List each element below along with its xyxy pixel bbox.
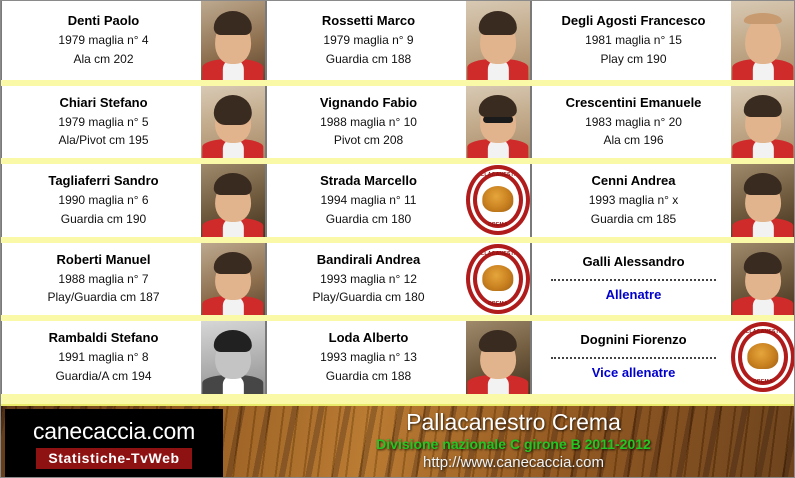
portrait-image (731, 243, 795, 316)
card-text: Chiari Stefano1979 maglia n° 5Ala/Pivot … (2, 86, 201, 159)
card-text: Crescentini Emanuele1983 maglia n° 20Ala… (532, 86, 731, 159)
player-photo (201, 243, 265, 316)
card-text: Bandirali Andrea1993 maglia n° 12Play/Gu… (267, 243, 466, 316)
portrait-image (466, 321, 530, 394)
portrait-image (201, 1, 265, 80)
player-birth-jersey: 1988 maglia n° 10 (320, 113, 417, 132)
player-card[interactable]: Denti Paolo1979 maglia n° 4Ala cm 202 (1, 1, 266, 80)
card-text: Cenni Andrea1993 maglia n° xGuardia cm 1… (532, 164, 731, 237)
player-card[interactable]: Cenni Andrea1993 maglia n° xGuardia cm 1… (531, 164, 795, 237)
card-text: Rossetti Marco1979 maglia n° 9Guardia cm… (267, 1, 466, 80)
portrait-image (731, 86, 795, 159)
portrait-image (466, 86, 530, 159)
club-title: Pallacanestro Crema (231, 410, 795, 436)
player-name: Galli Alessandro (582, 253, 684, 272)
club-league: Divisione nazionale C girone B 2011-2012 (231, 436, 795, 454)
player-photo (731, 164, 795, 237)
player-photo (731, 1, 795, 80)
player-role-height: Ala/Pivot cm 195 (58, 131, 148, 150)
player-birth-jersey: 1991 maglia n° 8 (58, 348, 148, 367)
player-birth-jersey: 1993 maglia n° 13 (320, 348, 417, 367)
player-role-height: Guardia cm 190 (61, 210, 146, 229)
player-photo (731, 86, 795, 159)
player-name: Vignando Fabio (320, 94, 417, 113)
player-name: Degli Agosti Francesco (562, 12, 706, 31)
player-name: Rossetti Marco (322, 12, 415, 31)
player-role-height: Guardia cm 188 (326, 367, 411, 386)
player-card[interactable]: Chiari Stefano1979 maglia n° 5Ala/Pivot … (1, 86, 266, 159)
player-name: Loda Alberto (329, 329, 409, 348)
player-role-height: Play cm 190 (600, 50, 666, 69)
player-name: Dognini Fiorenzo (580, 331, 686, 350)
staff-card[interactable]: Galli AlessandroAllenatre (531, 243, 795, 316)
player-birth-jersey: 1993 maglia n° x (589, 191, 679, 210)
card-text: Roberti Manuel1988 maglia n° 7Play/Guard… (2, 243, 201, 316)
player-name: Strada Marcello (320, 172, 417, 191)
player-card[interactable]: Vignando Fabio1988 maglia n° 10Pivot cm … (266, 86, 531, 159)
player-name: Denti Paolo (68, 12, 140, 31)
player-card[interactable]: Rossetti Marco1979 maglia n° 9Guardia cm… (266, 1, 531, 80)
portrait-image (201, 86, 265, 159)
roster-row: Rambaldi Stefano1991 maglia n° 8Guardia/… (1, 315, 795, 394)
player-birth-jersey: 1990 maglia n° 6 (58, 191, 148, 210)
player-card[interactable]: Tagliaferri Sandro1990 maglia n° 6Guardi… (1, 164, 266, 237)
portrait-image (731, 164, 795, 237)
team-roster-page: Denti Paolo1979 maglia n° 4Ala cm 202Ros… (0, 0, 795, 478)
crest-bottom-text: CREMA (470, 222, 526, 228)
player-name: Cenni Andrea (591, 172, 675, 191)
card-text: Vignando Fabio1988 maglia n° 10Pivot cm … (267, 86, 466, 159)
card-text: Degli Agosti Francesco1981 maglia n° 15P… (532, 1, 731, 80)
player-card[interactable]: Degli Agosti Francesco1981 maglia n° 15P… (531, 1, 795, 80)
roster-row: Denti Paolo1979 maglia n° 4Ala cm 202Ros… (1, 1, 795, 80)
player-birth-jersey: 1981 maglia n° 15 (585, 31, 682, 50)
player-card[interactable]: Bandirali Andrea1993 maglia n° 12Play/Gu… (266, 243, 531, 316)
player-photo (466, 1, 530, 80)
player-card[interactable]: Strada Marcello1994 maglia n° 11Guardia … (266, 164, 531, 237)
player-name: Bandirali Andrea (317, 251, 421, 270)
portrait-image (201, 243, 265, 316)
player-birth-jersey: 1983 maglia n° 20 (585, 113, 682, 132)
card-text: Strada Marcello1994 maglia n° 11Guardia … (267, 164, 466, 237)
player-card[interactable]: Crescentini Emanuele1983 maglia n° 20Ala… (531, 86, 795, 159)
card-text: Rambaldi Stefano1991 maglia n° 8Guardia/… (2, 321, 201, 394)
player-role-height: Play/Guardia cm 180 (312, 288, 424, 307)
portrait-image (201, 321, 265, 394)
player-name: Tagliaferri Sandro (48, 172, 158, 191)
player-photo (201, 86, 265, 159)
player-role-height: Guardia cm 185 (591, 210, 676, 229)
player-photo (466, 321, 530, 394)
club-crest-icon: PALLACANESTROCREMA (731, 321, 795, 394)
player-role-height: Ala cm 202 (73, 50, 133, 69)
staff-role: Vice allenatre (592, 363, 676, 383)
player-card[interactable]: Rambaldi Stefano1991 maglia n° 8Guardia/… (1, 321, 266, 394)
player-birth-jersey: 1993 maglia n° 12 (320, 270, 417, 289)
player-photo (731, 243, 795, 316)
card-text: Denti Paolo1979 maglia n° 4Ala cm 202 (2, 1, 201, 80)
player-card[interactable]: Roberti Manuel1988 maglia n° 7Play/Guard… (1, 243, 266, 316)
crest-bottom-text: CREMA (470, 301, 526, 307)
player-birth-jersey: 1988 maglia n° 7 (58, 270, 148, 289)
staff-role: Allenatre (606, 285, 662, 305)
player-photo (201, 321, 265, 394)
card-text: Tagliaferri Sandro1990 maglia n° 6Guardi… (2, 164, 201, 237)
dotted-separator (551, 357, 716, 359)
player-role-height: Guardia cm 188 (326, 50, 411, 69)
player-birth-jersey: 1994 maglia n° 11 (321, 191, 417, 210)
player-birth-jersey: 1979 maglia n° 9 (323, 31, 413, 50)
player-name: Crescentini Emanuele (566, 94, 702, 113)
player-name: Chiari Stefano (59, 94, 147, 113)
player-birth-jersey: 1979 maglia n° 4 (58, 31, 148, 50)
club-crest-icon: PALLACANESTROCREMA (466, 164, 530, 237)
card-text: Dognini FiorenzoVice allenatre (532, 321, 731, 394)
staff-card[interactable]: Dognini FiorenzoVice allenatrePALLACANES… (531, 321, 795, 394)
crest-top-text: PALLACANESTRO (470, 172, 526, 178)
portrait-image (201, 164, 265, 237)
roster-row: Tagliaferri Sandro1990 maglia n° 6Guardi… (1, 158, 795, 237)
brand-domain-text: canecaccia.com (33, 420, 195, 443)
brand-subtitle-badge: Statistiche-TvWeb (36, 448, 191, 469)
club-info-block: Pallacanestro Crema Divisione nazionale … (231, 410, 795, 474)
player-name: Rambaldi Stefano (49, 329, 159, 348)
player-photo (201, 1, 265, 80)
roster-row: Chiari Stefano1979 maglia n° 5Ala/Pivot … (1, 80, 795, 159)
roster-row: Roberti Manuel1988 maglia n° 7Play/Guard… (1, 237, 795, 316)
player-birth-jersey: 1979 maglia n° 5 (58, 113, 148, 132)
crest-top-text: PALLACANESTRO (470, 251, 526, 257)
site-brand-box[interactable]: canecaccia.com Statistiche-TvWeb (5, 409, 223, 478)
portrait-image (731, 1, 795, 80)
club-crest-icon: PALLACANESTROCREMA (466, 243, 530, 316)
player-photo (201, 164, 265, 237)
player-photo (466, 86, 530, 159)
crest-top-text: PALLACANESTRO (735, 329, 791, 335)
club-url[interactable]: http://www.canecaccia.com (231, 453, 795, 473)
player-role-height: Play/Guardia cm 187 (47, 288, 159, 307)
player-role-height: Guardia cm 180 (326, 210, 411, 229)
player-role-height: Pivot cm 208 (334, 131, 403, 150)
roster-grid: Denti Paolo1979 maglia n° 4Ala cm 202Ros… (1, 1, 795, 404)
player-name: Roberti Manuel (57, 251, 151, 270)
footer-banner: canecaccia.com Statistiche-TvWeb Pallaca… (1, 404, 795, 478)
portrait-image (466, 1, 530, 80)
card-text: Loda Alberto1993 maglia n° 13Guardia cm … (267, 321, 466, 394)
player-card[interactable]: Loda Alberto1993 maglia n° 13Guardia cm … (266, 321, 531, 394)
dotted-separator (551, 279, 716, 281)
crest-bottom-text: CREMA (735, 379, 791, 385)
player-role-height: Ala cm 196 (603, 131, 663, 150)
player-role-height: Guardia/A cm 194 (55, 367, 151, 386)
card-text: Galli AlessandroAllenatre (532, 243, 731, 316)
